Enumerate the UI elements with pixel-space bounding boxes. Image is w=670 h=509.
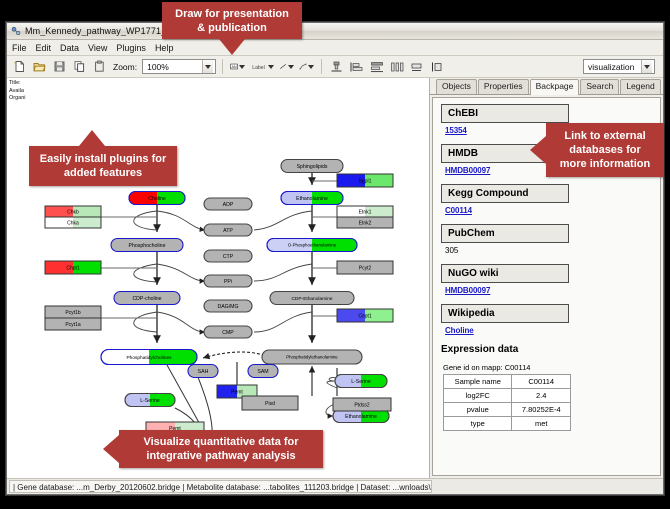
gene-label-pcyt2: Pcyt2 bbox=[359, 266, 372, 272]
table-row: type met bbox=[444, 417, 571, 431]
metabolite-label-ctp: CTP bbox=[223, 254, 234, 260]
toolbar: Zoom: 100% AN Label bbox=[7, 56, 663, 78]
menu-item-data[interactable]: Data bbox=[60, 43, 79, 53]
chevron-down-icon[interactable] bbox=[202, 60, 213, 73]
metabolite-label-o-phosphoethanolamine: O-Phosphoethanolamine bbox=[288, 243, 337, 248]
gene-label-etnk2: Etnk2 bbox=[359, 221, 372, 227]
window-titlebar: Mm_Kennedy_pathway_WP1771_45176.gpml bbox=[7, 23, 663, 40]
chevron-down-icon[interactable] bbox=[641, 60, 652, 73]
metabolite-node-phosphatidylethanolamine[interactable]: Phosphatidylethanolamine bbox=[262, 350, 362, 364]
align-top-icon[interactable] bbox=[328, 58, 345, 75]
pathway-canvas[interactable]: Title: Availa Organi bbox=[7, 78, 430, 478]
metabolite-node-phosphatidylcholines[interactable]: Phosphatidylcholines bbox=[101, 350, 197, 365]
draw-callout-arrow bbox=[219, 39, 245, 55]
menu-item-file[interactable]: File bbox=[12, 43, 27, 53]
metabolite-label-sah: SAH bbox=[198, 369, 209, 375]
pathway-nodes[interactable]: SphingolipidsCholineEthanolaminePhosphoc… bbox=[7, 78, 430, 478]
tab-search[interactable]: Search bbox=[580, 79, 619, 94]
pubchem-value: 305 bbox=[445, 246, 652, 255]
visualize-callout: Visualize quantitative data for integrat… bbox=[119, 430, 323, 468]
table-row: log2FC 2.4 bbox=[444, 389, 571, 403]
expr-label-type: type bbox=[444, 417, 512, 431]
tab-objects[interactable]: Objects bbox=[436, 79, 477, 94]
gene-label-pisd: Pisd bbox=[265, 401, 275, 407]
expr-label-sample-name: Sample name bbox=[444, 375, 512, 389]
metabolite-label-atp: ATP bbox=[223, 228, 233, 234]
label-icon[interactable]: Label bbox=[249, 58, 275, 75]
zoom-combobox[interactable]: 100% bbox=[142, 59, 216, 74]
plugins-callout-line2: added features bbox=[64, 166, 142, 180]
metabolite-node-dagmg[interactable]: DAG/MG bbox=[204, 300, 252, 312]
copy-icon[interactable] bbox=[71, 58, 88, 75]
metabolite-label-ethanolamine-right: Ethanolamine bbox=[345, 414, 377, 420]
plugins-callout-arrow bbox=[79, 130, 105, 146]
statusbar-text: | Gene database: ...m_Derby_20120602.bri… bbox=[9, 480, 432, 493]
pubchem-header: PubChem bbox=[441, 224, 569, 243]
align-left-icon[interactable] bbox=[348, 58, 365, 75]
metabolite-node-sam[interactable]: SAM bbox=[248, 365, 278, 378]
link-callout-line3: more information bbox=[560, 157, 650, 171]
metabolite-label-l-serine-right: L-Serine bbox=[351, 379, 371, 385]
link-callout-line1: Link to external bbox=[564, 129, 645, 143]
screenshot-root: Mm_Kennedy_pathway_WP1771_45176.gpml Fil… bbox=[0, 0, 670, 509]
pathvisio-window: Mm_Kennedy_pathway_WP1771_45176.gpml Fil… bbox=[6, 22, 664, 495]
toolbar-separator bbox=[222, 59, 223, 74]
gene-node-etnk1[interactable]: Etnk1 bbox=[337, 206, 393, 217]
visualize-callout-arrow bbox=[103, 435, 119, 463]
gene-label-etnk1: Etnk1 bbox=[359, 210, 372, 216]
gene-node-chpt1[interactable]: Chpt1 bbox=[45, 261, 101, 274]
draw-callout-line2: & publication bbox=[197, 21, 267, 35]
expr-value-pvalue: 7.80252E-4 bbox=[512, 403, 571, 417]
gene-label-pemt-small: Pemt bbox=[231, 390, 243, 396]
expr-value-type: met bbox=[512, 417, 571, 431]
metabolite-node-sah[interactable]: SAH bbox=[188, 365, 218, 378]
datanode-icon[interactable]: AN bbox=[229, 58, 246, 75]
gene-node-cept1[interactable]: Cept1 bbox=[337, 309, 393, 322]
gene-label-cept1: Cept1 bbox=[358, 314, 372, 320]
metabolite-node-l-serine-right[interactable]: L-Serine bbox=[335, 375, 387, 388]
floppy-save-icon[interactable] bbox=[51, 58, 68, 75]
gene-node-pcyt2[interactable]: Pcyt2 bbox=[337, 261, 393, 274]
gene-label-chkb: Chkb bbox=[67, 210, 79, 216]
menu-item-edit[interactable]: Edit bbox=[36, 43, 52, 53]
wikipedia-link[interactable]: Choline bbox=[445, 326, 652, 335]
line-icon[interactable] bbox=[278, 58, 295, 75]
link-callout: Link to external databases for more info… bbox=[546, 123, 664, 177]
gene-label-pcyt1a: Pcyt1a bbox=[65, 322, 81, 328]
expr-value-log2fc: 2.4 bbox=[512, 389, 571, 403]
metabolite-node-cdp-choline[interactable]: CDP-choline bbox=[114, 292, 180, 305]
metabolite-label-dagmg: DAG/MG bbox=[217, 304, 238, 310]
wikipedia-header: Wikipedia bbox=[441, 304, 569, 323]
table-row: pvalue 7.80252E-4 bbox=[444, 403, 571, 417]
metabolite-label-cdp-ethanolamine: CDP-Ethanolamine bbox=[291, 296, 332, 302]
same-width-icon[interactable] bbox=[408, 58, 425, 75]
link-callout-arrow bbox=[530, 136, 546, 164]
svg-text:Label: Label bbox=[252, 65, 264, 71]
folder-open-icon[interactable] bbox=[31, 58, 48, 75]
metabolite-node-o-phosphoethanolamine[interactable]: O-Phosphoethanolamine bbox=[267, 239, 357, 252]
tab-legend[interactable]: Legend bbox=[620, 79, 660, 94]
kegg-compound-header: Kegg Compound bbox=[441, 184, 569, 203]
visualization-combobox[interactable]: visualization bbox=[583, 59, 655, 74]
gene-node-pcyt1a[interactable]: Pcyt1a bbox=[45, 318, 101, 330]
clipboard-paste-icon[interactable] bbox=[91, 58, 108, 75]
draw-callout-line1: Draw for presentation bbox=[175, 7, 289, 21]
metabolite-label-l-serine-left: L-Serine bbox=[140, 398, 160, 404]
new-file-icon[interactable] bbox=[11, 58, 28, 75]
statusbar: | Gene database: ...m_Derby_20120602.bri… bbox=[7, 478, 663, 494]
interaction-icon[interactable] bbox=[298, 58, 315, 75]
metabolite-label-sphingolipids: Sphingolipids bbox=[297, 164, 328, 170]
gene-node-chkb[interactable]: Chkb bbox=[45, 206, 101, 217]
expression-table: Sample name C00114 log2FC 2.4 pvalue 7.8… bbox=[443, 374, 571, 431]
expr-label-pvalue: pvalue bbox=[444, 403, 512, 417]
metabolite-node-atp[interactable]: ATP bbox=[204, 224, 252, 236]
svg-text:AN: AN bbox=[232, 65, 237, 69]
expression-data-title: Expression data bbox=[441, 344, 652, 355]
tab-properties[interactable]: Properties bbox=[478, 79, 529, 94]
metabolite-label-adp: ADP bbox=[223, 202, 234, 208]
gene-node-chka[interactable]: Chka bbox=[45, 217, 101, 228]
gene-node-etnk2[interactable]: Etnk2 bbox=[337, 217, 393, 228]
distribute-vertical-icon[interactable] bbox=[368, 58, 385, 75]
visualize-callout-line1: Visualize quantitative data for bbox=[143, 435, 298, 449]
metabolite-node-adp[interactable]: ADP bbox=[204, 198, 252, 210]
gene-id-line: Gene id on mapp: C00114 bbox=[443, 363, 652, 372]
gene-node-ptdss2[interactable]: Ptdss2 bbox=[333, 398, 391, 411]
metabolite-node-l-serine-left[interactable]: L-Serine bbox=[125, 394, 175, 407]
menu-item-view[interactable]: View bbox=[88, 43, 107, 53]
menu-item-plugins[interactable]: Plugins bbox=[116, 43, 146, 53]
kegg-compound-link[interactable]: C00114 bbox=[445, 206, 652, 215]
nugo-wiki-header: NuGO wiki bbox=[441, 264, 569, 283]
zoom-value: 100% bbox=[145, 62, 202, 72]
metabolite-label-choline-top: Choline bbox=[148, 196, 166, 202]
visualization-value: visualization bbox=[586, 62, 641, 72]
metabolite-label-phosphocholine: Phosphocholine bbox=[129, 243, 166, 249]
distribute-horizontal-icon[interactable] bbox=[388, 58, 405, 75]
visualize-callout-line2: integrative pathway analysis bbox=[146, 449, 295, 463]
metabolite-label-ppi: PPi bbox=[224, 279, 232, 285]
gene-label-chka: Chka bbox=[67, 221, 79, 227]
metabolite-node-phosphocholine[interactable]: Phosphocholine bbox=[111, 239, 183, 252]
metabolite-node-choline-top[interactable]: Choline bbox=[129, 192, 185, 205]
gene-node-sgpl1[interactable]: Sgpl1 bbox=[337, 174, 393, 187]
menubar: File Edit Data View Plugins Help bbox=[7, 40, 663, 56]
gene-label-ptdss2: Ptdss2 bbox=[354, 403, 370, 409]
nugo-wiki-link[interactable]: HMDB00097 bbox=[445, 286, 652, 295]
metabolite-label-sam: SAM bbox=[257, 369, 268, 375]
metabolite-node-ethanolamine-top[interactable]: Ethanolamine bbox=[281, 192, 343, 205]
plugins-callout: Easily install plugins for added feature… bbox=[29, 146, 177, 186]
draw-callout: Draw for presentation & publication bbox=[162, 2, 302, 39]
metabolite-label-cdp-choline: CDP-choline bbox=[132, 296, 161, 302]
expr-value-sample-name: C00114 bbox=[512, 375, 571, 389]
metabolite-label-phosphatidylcholines: Phosphatidylcholines bbox=[126, 355, 172, 361]
metabolite-label-phosphatidylethanolamine: Phosphatidylethanolamine bbox=[286, 355, 338, 360]
chebi-header: ChEBI bbox=[441, 104, 569, 123]
gene-label-sgpl1: Sgpl1 bbox=[359, 179, 372, 185]
gene-label-pcyt1b: Pcyt1b bbox=[65, 310, 81, 316]
toolbar-separator bbox=[321, 59, 322, 74]
metabolite-label-cmp: CMP bbox=[222, 330, 234, 336]
plugins-callout-line1: Easily install plugins for bbox=[40, 152, 167, 166]
metabolite-node-ctp[interactable]: CTP bbox=[204, 250, 252, 262]
metabolite-node-cdp-ethanolamine[interactable]: CDP-Ethanolamine bbox=[270, 292, 354, 305]
metabolite-node-cmp[interactable]: CMP bbox=[204, 326, 252, 338]
gene-label-chpt1: Chpt1 bbox=[66, 266, 80, 272]
metabolite-node-sphingolipids[interactable]: Sphingolipids bbox=[281, 160, 343, 173]
gene-node-pcyt1b[interactable]: Pcyt1b bbox=[45, 306, 101, 318]
metabolite-label-ethanolamine-top: Ethanolamine bbox=[296, 196, 328, 202]
table-row: Sample name C00114 bbox=[444, 375, 571, 389]
menu-item-help[interactable]: Help bbox=[155, 43, 174, 53]
zoom-label: Zoom: bbox=[113, 62, 137, 72]
gene-node-pisd[interactable]: Pisd bbox=[242, 396, 298, 410]
metabolite-node-ppi[interactable]: PPi bbox=[204, 275, 252, 287]
expr-label-log2fc: log2FC bbox=[444, 389, 512, 403]
same-height-icon[interactable] bbox=[428, 58, 445, 75]
sidebar-tabstrip: Objects Properties Backpage Search Legen… bbox=[430, 78, 663, 95]
app-icon bbox=[11, 26, 21, 36]
tab-backpage[interactable]: Backpage bbox=[530, 79, 580, 95]
link-callout-line2: databases for bbox=[569, 143, 641, 157]
